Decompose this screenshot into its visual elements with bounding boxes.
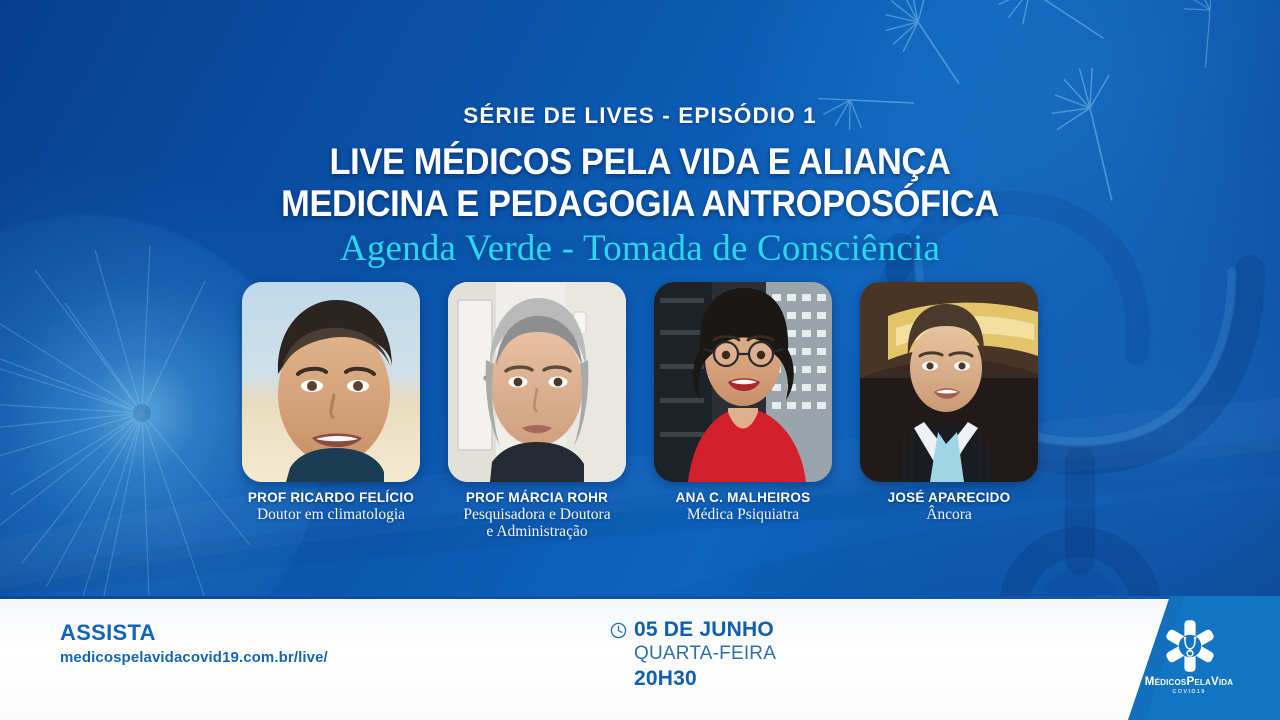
speakers-row: PROF RICARDO FELÍCIO Doutor em climatolo… (0, 282, 1280, 541)
logo-wordmark: MÉDICOSPELAVIDA COVID19 (1114, 676, 1264, 695)
star-of-life-stethoscope-icon (1162, 618, 1218, 674)
watch-block: ASSISTA medicospelavidacovid19.com.br/li… (60, 620, 328, 666)
speaker-card: PROF RICARDO FELÍCIO Doutor em climatolo… (242, 282, 420, 541)
logo-word-m: M (1145, 676, 1155, 688)
speaker-role: Âncora (926, 506, 972, 523)
logo-word-edicos: ÉDICOS (1155, 678, 1187, 687)
poster-subtitle: Agenda Verde - Tomada de Consciência (0, 227, 1280, 270)
speaker-photo-jose-aparecido (860, 282, 1038, 482)
speaker-photo (860, 282, 1038, 482)
speaker-photo-ana-malheiros (654, 282, 832, 482)
event-date: 05 DE JUNHO (634, 618, 774, 642)
speaker-name: PROF RICARDO FELÍCIO (248, 490, 414, 505)
event-weekday: QUARTA-FEIRA (634, 643, 776, 665)
logo-word-ela: ELA (1194, 678, 1211, 687)
speaker-name: PROF MÁRCIA ROHR (466, 490, 608, 505)
speaker-card: JOSÉ APARECIDO Âncora (860, 282, 1038, 541)
logo-word-ida: IDA (1219, 678, 1233, 687)
logo-panel: MÉDICOSPELAVIDA COVID19 (1050, 596, 1280, 720)
speaker-photo (448, 282, 626, 482)
date-main-row: 05 DE JUNHO (610, 618, 776, 642)
episode-kicker: SÉRIE DE LIVES - EPISÓDIO 1 (0, 103, 1280, 129)
logo-word-v: V (1211, 676, 1219, 688)
logo-tagline: COVID19 (1114, 689, 1264, 695)
speaker-photo-ricardo-felicio (242, 282, 420, 482)
date-block: 05 DE JUNHO QUARTA-FEIRA 20H30 (610, 618, 776, 691)
watch-label: ASSISTA (60, 620, 328, 646)
speaker-photo (242, 282, 420, 482)
clock-icon (610, 622, 627, 639)
speaker-card: ANA C. MALHEIROS Médica Psiquiatra (654, 282, 832, 541)
speaker-card: PROF MÁRCIA ROHR Pesquisadora e Doutora … (448, 282, 626, 541)
poster-title-line-1: LIVE MÉDICOS PELA VIDA E ALIANÇA (45, 143, 1235, 180)
poster-title-line-2: MEDICINA E PEDAGOGIA ANTROPOSÓFICA (45, 185, 1235, 222)
speaker-role: Pesquisadora e Doutora e Administração (463, 506, 610, 541)
footer-bar: ASSISTA medicospelavidacovid19.com.br/li… (0, 596, 1280, 720)
speaker-name: JOSÉ APARECIDO (888, 490, 1011, 505)
speaker-photo (654, 282, 832, 482)
speaker-role: Médica Psiquiatra (687, 506, 799, 523)
live-event-poster: SÉRIE DE LIVES - EPISÓDIO 1 LIVE MÉDICOS… (0, 0, 1280, 720)
speaker-role: Doutor em climatologia (257, 506, 405, 523)
watch-url-link[interactable]: medicospelavidacovid19.com.br/live/ (60, 649, 328, 666)
speaker-name: ANA C. MALHEIROS (676, 490, 811, 505)
speaker-photo-marcia-rohr (448, 282, 626, 482)
logo-wordmark-text: MÉDICOSPELAVIDA (1114, 676, 1264, 688)
event-time: 20H30 (634, 667, 776, 691)
